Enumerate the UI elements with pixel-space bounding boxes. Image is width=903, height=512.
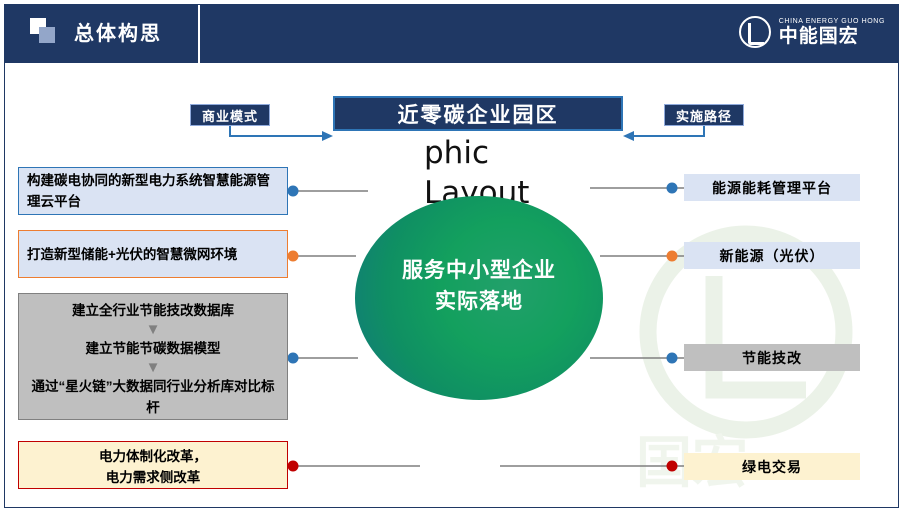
center-line-1: 服务中小型企业 [355, 255, 603, 286]
arrow-down-icon: ▼ [27, 322, 279, 337]
header-square-blue-icon [39, 27, 55, 43]
arrow-down-icon-2: ▼ [27, 360, 279, 375]
logo-english-name: CHINA ENERGY GUO HONG [779, 17, 885, 26]
center-ellipse-label: 服务中小型企业 实际落地 [355, 255, 603, 317]
center-line-2: 实际落地 [355, 286, 603, 317]
tag-implementation-path[interactable]: 实施路径 [664, 104, 744, 126]
logo-chinese-name: 中能国宏 [779, 26, 885, 47]
db-line-3: 通过“星火链”大数据同行业分析库对比标杆 [27, 376, 279, 418]
diagram-main-title: 近零碳企业园区 [333, 96, 623, 131]
box-energy-saving-database[interactable]: 建立全行业节能技改数据库 ▼ 建立节能节碳数据模型 ▼ 通过“星火链”大数据同行… [18, 293, 288, 420]
db-line-1: 建立全行业节能技改数据库 [27, 300, 279, 321]
reform-line-2: 电力需求侧改革 [27, 467, 279, 488]
box-new-energy-pv[interactable]: 新能源（光伏） [684, 242, 860, 269]
box-power-market-reform[interactable]: 电力体制化改革， 电力需求侧改革 [18, 441, 288, 489]
page-title: 总体构思 [74, 17, 162, 46]
logo-mark-icon [739, 16, 771, 48]
tag-business-model[interactable]: 商业模式 [190, 104, 270, 126]
box-energy-saving-retrofit[interactable]: 节能技改 [684, 344, 860, 371]
box-storage-pv-microgrid[interactable]: 打造新型储能+光伏的智慧微网环境 [18, 230, 288, 278]
box-green-power-trading[interactable]: 绿电交易 [684, 453, 860, 480]
box-smart-energy-cloud-platform[interactable]: 构建碳电协同的新型电力系统智慧能源管理云平台 [18, 167, 288, 215]
box-energy-consumption-platform[interactable]: 能源能耗管理平台 [684, 174, 860, 201]
db-line-2: 建立节能节碳数据模型 [27, 338, 279, 359]
brand-logo: CHINA ENERGY GUO HONG 中能国宏 [739, 12, 885, 52]
slide-canvas: 国宏 总体构思 CHINA ENERGY GUO HONG 中能国宏 [0, 0, 903, 512]
reform-line-1: 电力体制化改革， [27, 446, 279, 467]
